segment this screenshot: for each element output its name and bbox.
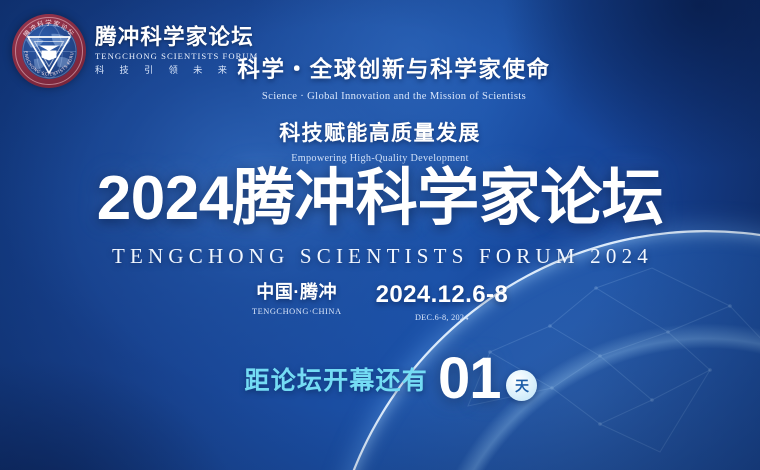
main-title-en: TENGCHONG SCIENTISTS FORUM 2024 — [0, 244, 760, 269]
countdown-label: 距论坛开幕还有 — [245, 361, 428, 397]
location-cn: 中国·腾冲 — [252, 283, 342, 301]
event-date: 2024.12.6-8 DEC.6-8, 2024 — [376, 283, 509, 322]
tagline-cn-secondary: 科技赋能高质量发展 — [0, 117, 760, 147]
countdown-days: 01 — [438, 352, 501, 405]
location-en: TENGCHONG·CHINA — [252, 308, 342, 316]
event-meta-block: 中国·腾冲 TENGCHONG·CHINA 2024.12.6-8 DEC.6-… — [0, 283, 760, 322]
main-title-block: 2024腾冲科学家论坛 TENGCHONG SCIENTISTS FORUM 2… — [0, 168, 760, 269]
forum-banner: 腾冲科学家论坛 TENGCHONG SCIENTISTS FORUM 腾冲科学家… — [0, 0, 760, 470]
logo-cn-name: 腾冲科学家论坛 — [95, 27, 258, 49]
date-cn: 2024.12.6-8 — [376, 283, 509, 307]
countdown-block: 距论坛开幕还有 01 天 — [0, 352, 760, 405]
date-en: DEC.6-8, 2024 — [376, 314, 509, 322]
tagline-en-secondary: Empowering High-Quality Development — [0, 153, 760, 164]
event-location: 中国·腾冲 TENGCHONG·CHINA — [252, 283, 342, 316]
tagline-en-primary: Science · Global Innovation and the Miss… — [0, 91, 760, 102]
tagline-cn-primary: 科学・全球创新与科学家使命 — [0, 52, 760, 84]
tagline-block: 科学・全球创新与科学家使命 Science · Global Innovatio… — [0, 52, 760, 164]
countdown-unit-badge: 天 — [506, 370, 537, 401]
main-title-cn: 2024腾冲科学家论坛 — [0, 168, 760, 230]
